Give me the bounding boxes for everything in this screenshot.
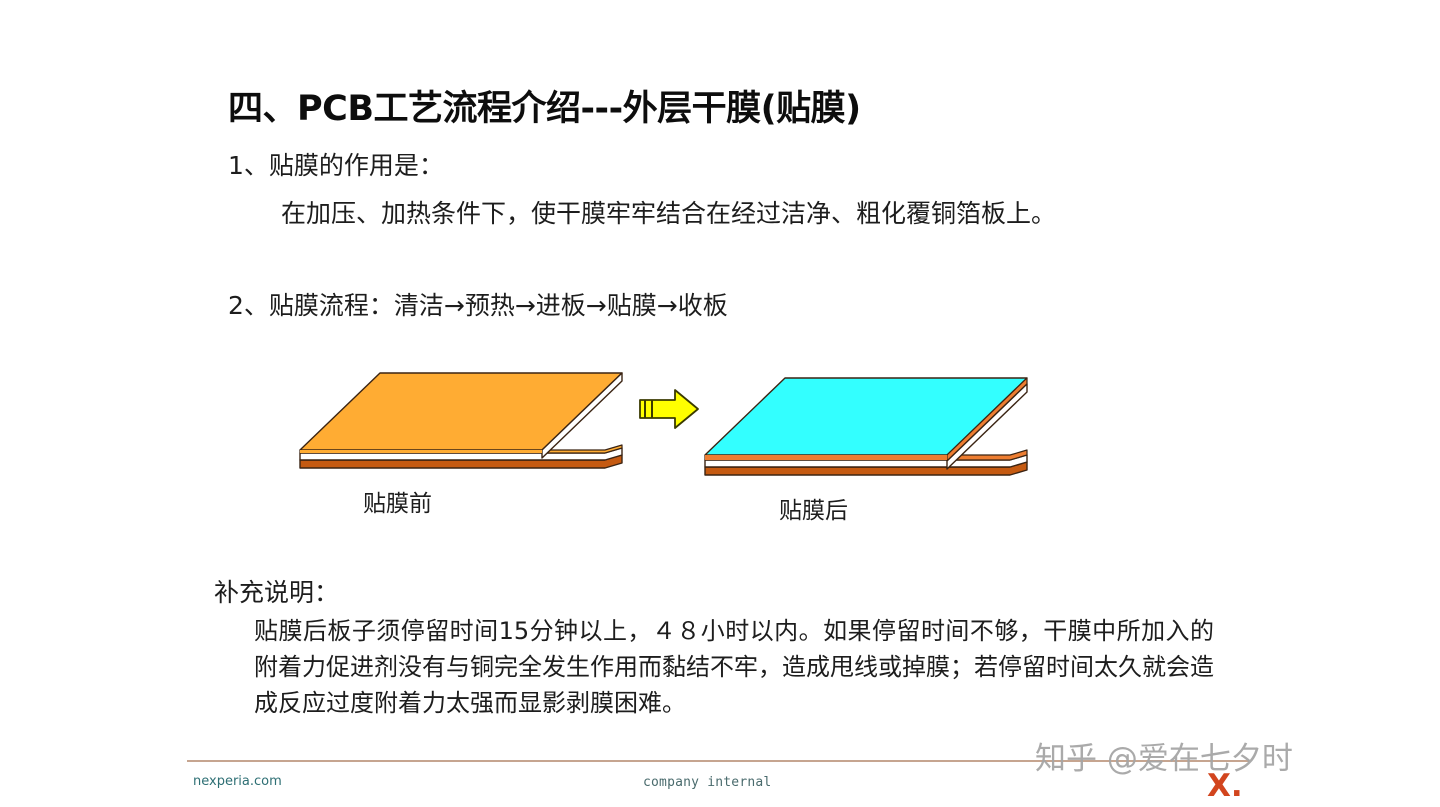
watermark-text: 知乎 @爱在七夕时 <box>1035 733 1293 778</box>
footer-classification-label: company internal <box>643 775 771 790</box>
section-1-heading: 1、贴膜的作用是： <box>228 146 444 182</box>
section-1-body: 在加压、加热条件下，使干膜牢牢结合在经过洁净、粗化覆铜箔板上。 <box>281 194 1056 230</box>
presentation-slide: 四、PCB工艺流程介绍---外层干膜(贴膜) 1、贴膜的作用是： 在加压、加热条… <box>0 0 1440 807</box>
board-before <box>300 373 622 468</box>
notes-body: 贴膜后板子须停留时间15分钟以上，４８小时以内。如果停留时间不够，干膜中所加入的… <box>254 613 1214 721</box>
board-after-film-strip-overlay <box>705 455 947 460</box>
board-after-top <box>705 378 1027 455</box>
footer-website-link[interactable]: nexperia.com <box>193 774 282 789</box>
section-2-heading: 2、贴膜流程：清洁→预热→进板→贴膜→收板 <box>228 286 728 322</box>
right-arrow-icon <box>640 390 698 428</box>
board-after <box>705 378 1027 475</box>
board-before-top <box>300 373 622 450</box>
arrow-body <box>640 390 698 428</box>
nexperia-logo: X. <box>1207 771 1243 802</box>
caption-after-lamination: 贴膜后 <box>779 491 848 525</box>
page-title: 四、PCB工艺流程介绍---外层干膜(贴膜) <box>228 80 861 131</box>
caption-before-lamination: 贴膜前 <box>363 484 432 518</box>
notes-heading: 补充说明： <box>214 573 339 609</box>
board-before-front-strip-overlay <box>300 450 542 453</box>
